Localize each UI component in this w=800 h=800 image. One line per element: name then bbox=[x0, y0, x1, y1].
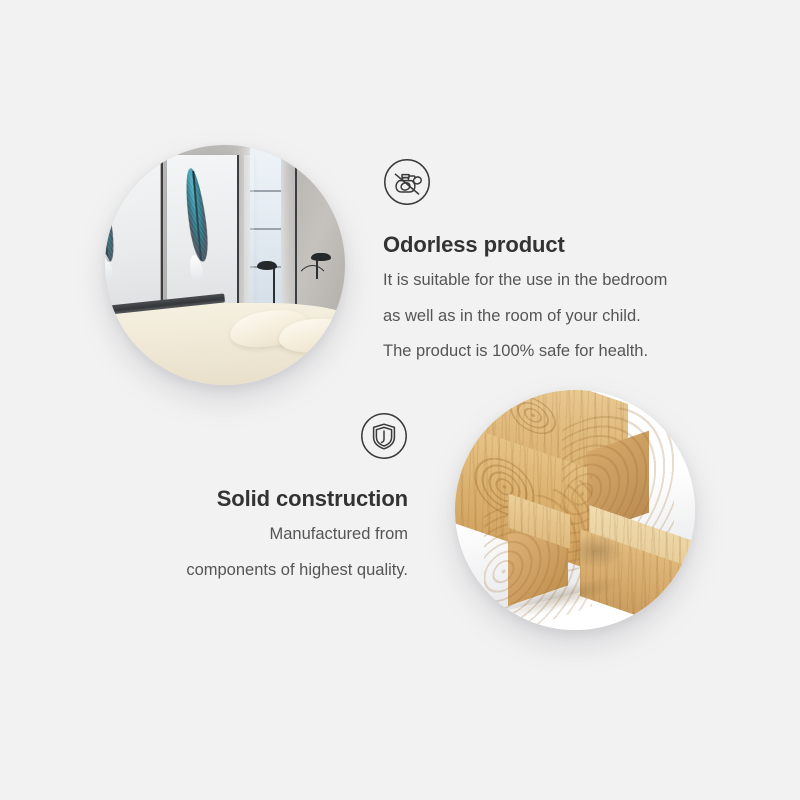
shield-icon bbox=[360, 412, 408, 460]
feather-art-panel bbox=[244, 155, 254, 323]
feature-solid-construction: Solid construction Manufactured from com… bbox=[48, 412, 408, 583]
feature-body-line: Manufactured from bbox=[48, 522, 408, 548]
feather-art-panel bbox=[105, 155, 160, 323]
panel-frame bbox=[237, 155, 239, 323]
feature-title: Solid construction bbox=[48, 486, 408, 512]
teal-feather bbox=[105, 178, 117, 263]
teal-feather bbox=[181, 167, 211, 262]
feature-title: Odorless product bbox=[383, 232, 667, 258]
feature-body-line: as well as in the room of your child. bbox=[383, 304, 667, 330]
timber-shadow bbox=[570, 534, 623, 568]
wooden-timber-blocks-photo bbox=[455, 390, 695, 630]
bed bbox=[105, 303, 345, 385]
lamp-shade bbox=[257, 261, 276, 269]
bedroom-window bbox=[250, 145, 281, 318]
feature-body-line: It is suitable for the use in the bedroo… bbox=[383, 268, 667, 294]
no-odor-perfume-bottle-icon bbox=[383, 158, 431, 206]
feature-body-line: components of highest quality. bbox=[48, 558, 408, 584]
lamp-shade bbox=[311, 253, 330, 261]
feature-odorless: Odorless product It is suitable for the … bbox=[383, 158, 667, 365]
panel-frame bbox=[161, 155, 163, 323]
feature-body-line: The product is 100% safe for health. bbox=[383, 339, 667, 365]
infographic-canvas: Odorless product It is suitable for the … bbox=[0, 0, 800, 800]
photo-inner bbox=[105, 145, 345, 385]
photo-inner bbox=[455, 390, 695, 630]
feather-wall-art-bedroom-photo bbox=[105, 145, 345, 385]
